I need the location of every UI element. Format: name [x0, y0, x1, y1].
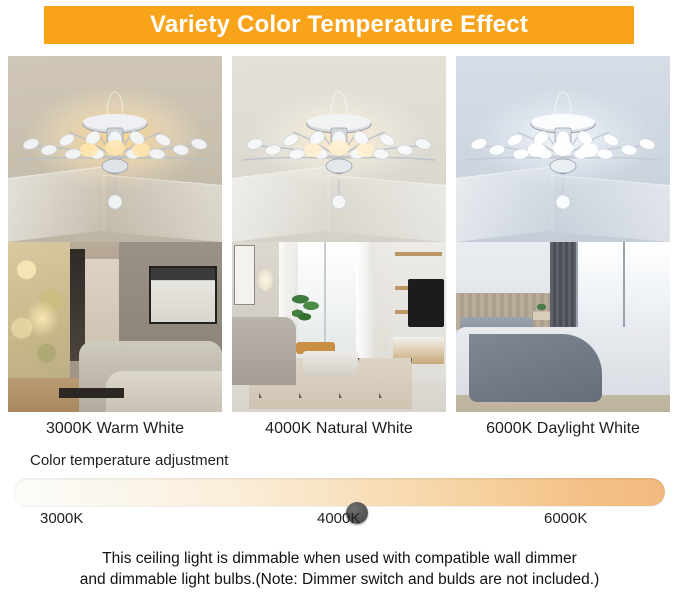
- panel-6000k-daylight-white: [456, 56, 670, 412]
- color-temperature-slider-track[interactable]: [14, 478, 665, 506]
- ceiling-scene-natural: [232, 56, 446, 242]
- footer-line-2: and dimmable light bulbs.(Note: Dimmer s…: [0, 569, 679, 590]
- footer-line-1: This ceiling light is dimmable when used…: [0, 548, 679, 569]
- crystal-ceiling-light-icon: [233, 80, 445, 230]
- footer-note: This ceiling light is dimmable when used…: [0, 548, 679, 590]
- panel-4000k-natural-white: [232, 56, 446, 412]
- panel-label-6000k: 6000K Daylight White: [456, 416, 670, 442]
- ceiling-scene-warm: [8, 56, 222, 242]
- window-mullion: [623, 242, 625, 341]
- wall-sconce: [258, 269, 273, 291]
- room-scene-warm: [8, 242, 222, 412]
- framed-poster: [234, 245, 255, 305]
- slider-caption: Color temperature adjustment: [30, 452, 228, 469]
- coffee-table: [303, 351, 359, 375]
- indoor-plant: [292, 286, 320, 330]
- panel-label-row: 3000K Warm White 4000K Natural White 600…: [8, 416, 671, 442]
- slider-tick-3000k: 3000K: [40, 510, 83, 527]
- bedside-plant: [533, 300, 550, 320]
- room-scene-daylight: [456, 242, 670, 412]
- page-title: Variety Color Temperature Effect: [150, 11, 528, 39]
- ceiling-scene-daylight: [456, 56, 670, 242]
- wall-shelf: [395, 252, 442, 256]
- television: [408, 279, 444, 327]
- grey-sofa: [232, 317, 296, 385]
- sofa-chaise: [106, 371, 222, 412]
- slider-tick-4000k: 4000K: [317, 510, 360, 527]
- coffee-table: [59, 388, 123, 398]
- slider-tick-6000k: 6000K: [544, 510, 587, 527]
- color-temperature-panels: [8, 56, 671, 412]
- header-banner: Variety Color Temperature Effect: [44, 6, 634, 44]
- grey-throw-blanket: [469, 334, 602, 402]
- panel-label-4000k: 4000K Natural White: [232, 416, 446, 442]
- wall-light-glow: [25, 300, 59, 337]
- framed-art: [149, 266, 217, 324]
- panel-label-3000k: 3000K Warm White: [8, 416, 222, 442]
- crystal-ceiling-light-icon: [457, 80, 669, 230]
- panel-3000k-warm-white: [8, 56, 222, 412]
- room-scene-natural: [232, 242, 446, 412]
- crystal-ceiling-light-icon: [9, 80, 221, 230]
- color-temperature-slider-section: Color temperature adjustment 3000K 4000K…: [0, 452, 679, 530]
